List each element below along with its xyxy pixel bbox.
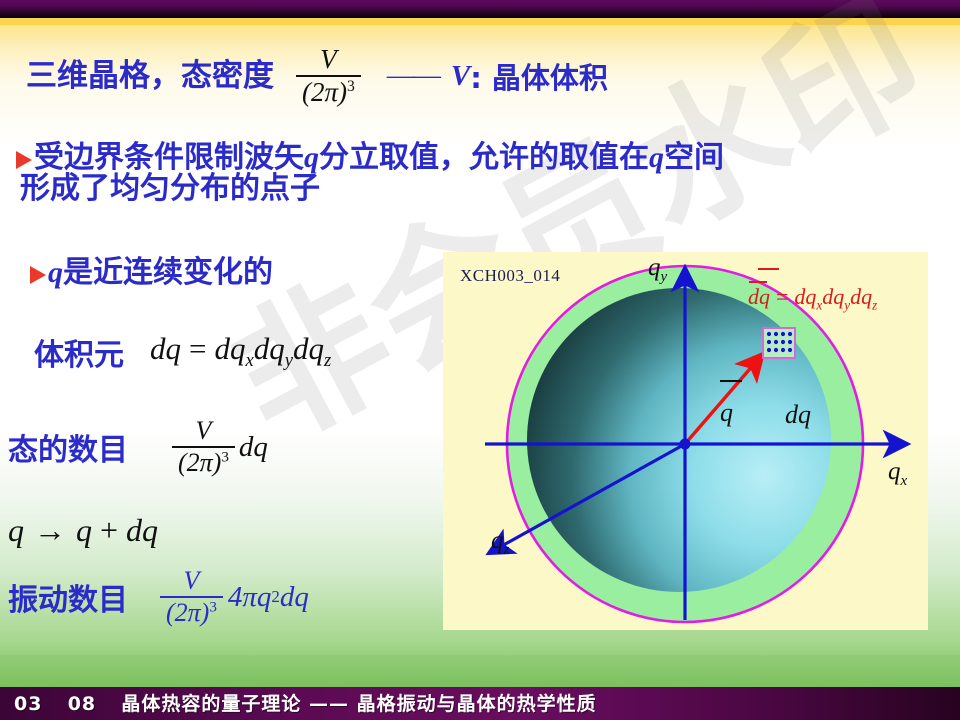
title-density-fraction: V (2π)3 (296, 46, 361, 106)
state-count-fraction: V (2π)3 (172, 418, 235, 476)
origin-dot (680, 439, 691, 450)
footer-num-1: 03 (14, 693, 42, 715)
qy-axis-label: qy (648, 254, 667, 286)
right-arrow-icon: → (24, 512, 76, 548)
vibration-suffix-b: dq (280, 581, 309, 614)
vibration-count-equation: V (2π)3 4πq2dq (160, 568, 309, 626)
state-count-suffix: dq (239, 431, 268, 464)
figure-id-label: XCH003_014 (460, 266, 560, 286)
bullet-2-text: 是近连续变化的 (63, 255, 273, 290)
bullet-item-2: q是近连续变化的 (30, 258, 273, 288)
bullet-1-text-c: 空间 (664, 140, 724, 175)
state-count-label: 态的数目 (8, 425, 128, 469)
bullet-item-1: 受边界条件限制波矢q分立取值，允许的取值在q空间 形成了均匀分布的点子 (16, 143, 936, 204)
bullet-1-line-2: 形成了均匀分布的点子 (20, 174, 936, 205)
title-fraction-numerator: V (314, 46, 343, 75)
volume-element-row: 体积元 dq=dqxdqydqz (34, 330, 331, 374)
page-title: 三维晶格，态密度 V (2π)3 —— V : 晶体体积 (26, 46, 608, 106)
q-range-c: dq (126, 512, 158, 548)
footer-title: 晶体热容的量子理论 —— 晶格振动与晶体的热学性质 (121, 693, 596, 715)
vibration-suffix-a: 4πq (228, 581, 272, 614)
state-count-equation: V (2π)3 dq (172, 418, 268, 476)
vibration-count-row: 振动数目 V (2π)3 4πq2dq (8, 568, 309, 626)
figure-equation: dq=dqxdqydqz (748, 284, 877, 313)
qz-axis-label: qz (491, 527, 509, 559)
top-gold-band (0, 18, 960, 25)
dq-shell-label: dq (785, 400, 811, 430)
title-lead: 三维晶格，态密度 (26, 61, 274, 92)
top-purple-bar (0, 0, 960, 18)
bullet-1-text-b: 分立取值，允许的取值在 (319, 140, 649, 175)
volume-element-label: 体积元 (34, 330, 124, 374)
title-legend-text: : 晶体体积 (470, 55, 608, 97)
bullet-1-symbol-q1: q (304, 141, 319, 174)
bullet-2-line-1: q是近连续变化的 (30, 258, 273, 288)
qx-axis-label: qx (888, 458, 907, 490)
vibration-count-fraction: V (2π)3 (160, 568, 223, 626)
title-dash: —— (387, 60, 439, 92)
plus-sign: + (92, 512, 126, 548)
title-fraction-denominator: (2π)3 (296, 77, 361, 106)
footer-text: 03 08 晶体热容的量子理论 —— 晶格振动与晶体的热学性质 (14, 689, 597, 716)
volume-element-equation: dq=dqxdqydqz (150, 331, 331, 372)
q-range-row: q→q+dq (8, 512, 158, 549)
dq-volume-cell (763, 328, 795, 358)
q-vector-label: q (720, 398, 733, 428)
bullet-1-line-1: 受边界条件限制波矢q分立取值，允许的取值在q空间 (16, 143, 936, 174)
vibration-suffix-exp: 2 (271, 587, 280, 607)
footer-num-2: 08 (68, 693, 96, 715)
q-range-b: q (76, 512, 92, 548)
q-range-a: q (8, 512, 24, 548)
bullet-1-text-a: 受边界条件限制波矢 (34, 140, 304, 175)
title-legend-symbol: V (451, 60, 470, 93)
figure-eq-lhs: dq (748, 284, 770, 310)
bottom-green-band (0, 655, 960, 687)
vibration-count-label: 振动数目 (8, 575, 128, 619)
slide-canvas: 非会员水印 三维晶格，态密度 V (2π)3 —— V : 晶体体积 受边界条件… (0, 0, 960, 720)
state-count-row: 态的数目 V (2π)3 dq (8, 418, 268, 476)
arrow-bullet-icon (30, 266, 46, 284)
bullet-2-symbol-q: q (48, 256, 63, 289)
arrow-bullet-icon (16, 151, 32, 169)
q-space-figure: XCH003_014 dq=dqxdqydqz (443, 252, 928, 630)
bullet-1-symbol-q2: q (649, 141, 664, 174)
